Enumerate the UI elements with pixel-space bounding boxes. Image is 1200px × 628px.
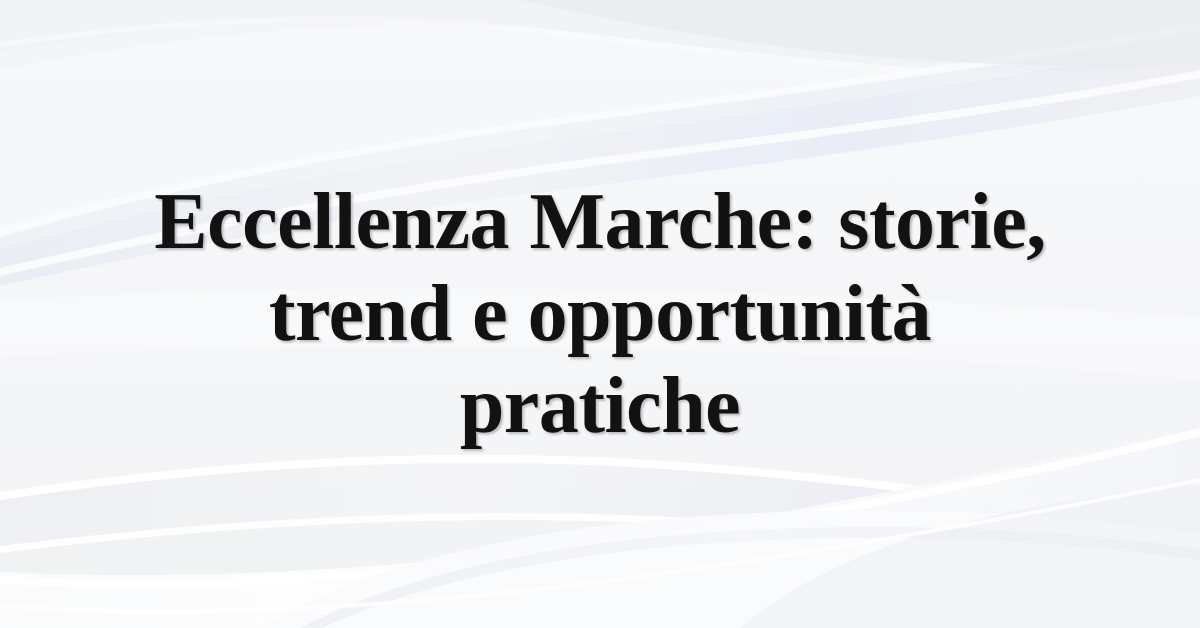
headline-line-2: trend e opportunità xyxy=(90,268,1110,360)
page-title: Eccellenza Marche: storie, trend e oppor… xyxy=(90,176,1110,452)
headline-line-3: pratiche xyxy=(90,360,1110,452)
headline-line-1: Eccellenza Marche: storie, xyxy=(90,176,1110,268)
headline-container: Eccellenza Marche: storie, trend e oppor… xyxy=(0,0,1200,628)
social-share-banner: Eccellenza Marche: storie, trend e oppor… xyxy=(0,0,1200,628)
